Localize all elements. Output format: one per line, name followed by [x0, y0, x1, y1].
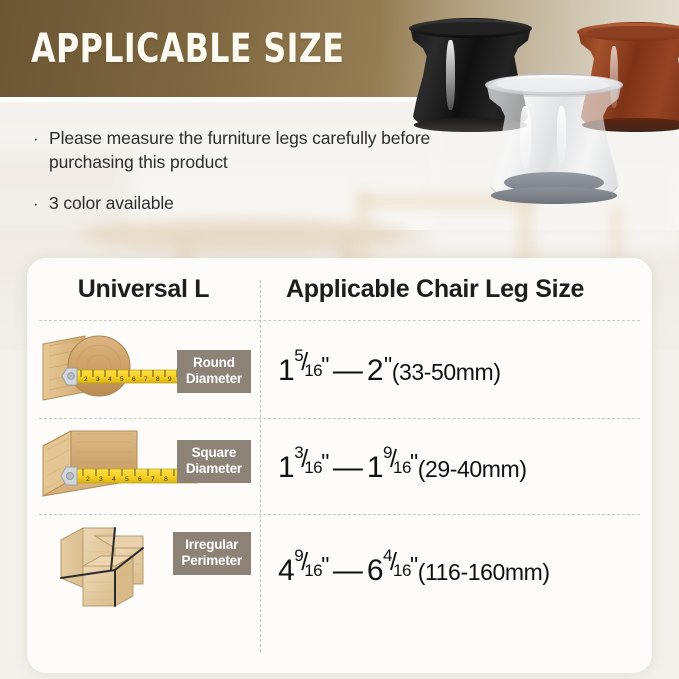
- inch-mark: ": [321, 552, 329, 578]
- bullet-text: Please measure the furniture legs carefu…: [49, 127, 453, 174]
- svg-text:8: 8: [156, 376, 160, 383]
- column-header-size: Applicable Chair Leg Size: [260, 275, 652, 304]
- metric-value: (29-40mm): [418, 456, 527, 482]
- chair-leg-cap-clear: [484, 73, 624, 201]
- size-value-cell: 15/16"—2"(33-50mm): [260, 350, 652, 388]
- metric-value: (116-160mm): [418, 559, 550, 585]
- table-row: Irregular Perimeter 49/16"—64/16"(116-16…: [27, 514, 652, 624]
- table-row: 234 567 89 Round Diameter 15/16"—2"(33-5…: [27, 320, 652, 418]
- size-range-text: 49/16"—64/16"(116-160mm): [278, 554, 550, 587]
- column-header-label: Universal L: [78, 275, 209, 303]
- svg-text:7: 7: [144, 376, 148, 383]
- svg-text:8: 8: [164, 476, 168, 483]
- range-dash: —: [333, 451, 363, 484]
- svg-text:4: 4: [108, 376, 112, 383]
- svg-text:2: 2: [86, 476, 90, 483]
- max-fraction: 9/16: [383, 447, 409, 479]
- max-fraction: 4/16: [383, 550, 409, 582]
- feature-bullet-list: · Please measure the furniture legs care…: [33, 127, 453, 234]
- cap-base: [491, 187, 617, 204]
- min-whole: 1: [278, 451, 294, 484]
- svg-text:4: 4: [112, 476, 116, 483]
- svg-text:5: 5: [125, 476, 129, 483]
- fraction-denominator: 16: [304, 561, 322, 581]
- inch-mark: ": [321, 352, 329, 378]
- min-fraction: 5/16: [294, 350, 320, 382]
- max-whole: 2: [367, 354, 383, 387]
- svg-text:5: 5: [120, 376, 124, 383]
- badge-line-2: Diameter: [186, 371, 242, 386]
- bullet-marker-icon: ·: [33, 127, 43, 150]
- page-title: APPLICABLE SIZE: [31, 27, 344, 71]
- svg-text:7: 7: [151, 476, 155, 483]
- status-badge: Irregular Perimeter: [173, 532, 252, 575]
- cap-highlight-secondary: [557, 106, 566, 162]
- min-whole: 1: [278, 354, 294, 387]
- fraction-denominator: 16: [304, 361, 322, 381]
- min-whole: 4: [278, 554, 294, 587]
- svg-text:3: 3: [96, 376, 100, 383]
- list-item: · Please measure the furniture legs care…: [33, 127, 453, 174]
- fraction-denominator: 16: [393, 458, 411, 478]
- badge-line-1: Square: [192, 445, 237, 460]
- cap-highlight: [446, 40, 455, 109]
- illustration-cell: 234 567 89 Round Diameter: [27, 320, 260, 418]
- svg-text:3: 3: [99, 476, 103, 483]
- fraction-denominator: 16: [304, 458, 322, 478]
- size-value-cell: 49/16"—64/16"(116-160mm): [260, 550, 652, 588]
- table-header-row: Universal L Applicable Chair Leg Size: [27, 258, 652, 320]
- size-value-cell: 13/16"—19/16"(29-40mm): [260, 447, 652, 485]
- status-badge: Round Diameter: [177, 350, 251, 393]
- badge-line-2: Diameter: [186, 461, 242, 476]
- status-badge: Square Diameter: [177, 440, 251, 483]
- illustration-cell: Irregular Perimeter: [27, 514, 260, 624]
- size-range-text: 13/16"—19/16"(29-40mm): [278, 451, 527, 484]
- size-range-text: 15/16"—2"(33-50mm): [278, 354, 501, 387]
- svg-text:9: 9: [168, 376, 172, 383]
- max-whole: 6: [367, 554, 383, 587]
- svg-text:2: 2: [84, 376, 88, 383]
- badge-line-1: Irregular: [185, 537, 238, 552]
- range-dash: —: [333, 554, 363, 587]
- column-header-universal: Universal L: [27, 275, 260, 304]
- inch-mark: ": [321, 449, 329, 475]
- illustration-cell: 234 567 89 Square Diameter: [27, 418, 260, 514]
- column-header-label: Applicable Chair Leg Size: [260, 275, 584, 303]
- inch-mark: ": [410, 449, 418, 475]
- product-photo-group: [396, 0, 679, 230]
- min-fraction: 3/16: [294, 447, 320, 479]
- bullet-text: 3 color available: [49, 192, 174, 216]
- list-item: · 3 color available: [33, 192, 453, 216]
- badge-line-2: Perimeter: [182, 553, 243, 568]
- max-whole: 1: [367, 451, 383, 484]
- svg-text:6: 6: [138, 476, 142, 483]
- range-dash: —: [333, 354, 363, 387]
- svg-text:6: 6: [132, 376, 136, 383]
- fraction-denominator: 16: [393, 561, 411, 581]
- size-table-card: Universal L Applicable Chair Leg Size: [27, 258, 652, 673]
- metric-value: (33-50mm): [392, 359, 501, 385]
- bullet-marker-icon: ·: [33, 192, 43, 215]
- inch-mark: ": [384, 352, 392, 378]
- cap-highlight: [520, 106, 531, 167]
- inch-mark: ": [410, 552, 418, 578]
- badge-line-1: Round: [193, 355, 235, 370]
- table-row: 234 567 89 Square Diameter 13/16"—19/16"…: [27, 418, 652, 514]
- cap-rim-inner: [419, 22, 522, 34]
- min-fraction: 9/16: [294, 550, 320, 582]
- irregular-wood-leg-icon: [53, 522, 173, 614]
